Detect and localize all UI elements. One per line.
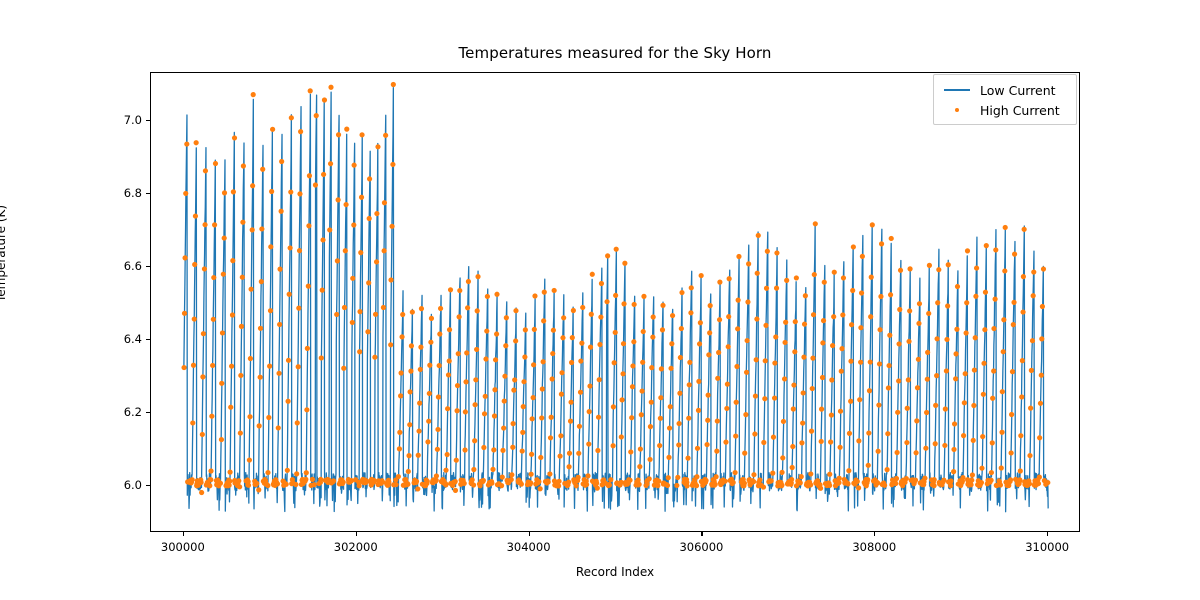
x-tick-label: 304000	[507, 540, 551, 554]
y-tick-mark	[146, 485, 150, 486]
legend-dot-icon	[940, 108, 974, 112]
x-tick-mark	[356, 532, 357, 536]
y-tick-mark	[146, 120, 150, 121]
legend-line-icon	[940, 89, 974, 91]
y-tick-label: 6.4	[94, 332, 142, 346]
chart-canvas	[151, 73, 1080, 532]
y-tick-label: 7.0	[94, 113, 142, 127]
legend-item-low-current: Low Current	[940, 80, 1068, 100]
x-tick-label: 310000	[1025, 540, 1069, 554]
x-tick-label: 302000	[334, 540, 378, 554]
matplotlib-figure: Temperatures measured for the Sky Horn 6…	[0, 0, 1200, 600]
plot-axes	[150, 72, 1080, 532]
x-tick-mark	[183, 532, 184, 536]
chart-legend: Low Current High Current	[933, 74, 1077, 125]
x-axis-label: Record Index	[150, 565, 1080, 579]
y-tick-mark	[146, 412, 150, 413]
x-tick-label: 306000	[679, 540, 723, 554]
x-tick-label: 308000	[852, 540, 896, 554]
series-low-current	[184, 88, 1048, 512]
x-tick-mark	[1047, 532, 1048, 536]
y-tick-label: 6.6	[94, 259, 142, 273]
low-current-line	[184, 88, 1048, 512]
y-tick-label: 6.0	[94, 478, 142, 492]
page-title: Temperatures measured for the Sky Horn	[150, 44, 1080, 62]
x-tick-label: 300000	[161, 540, 205, 554]
y-tick-mark	[146, 193, 150, 194]
y-tick-label: 6.2	[94, 405, 142, 419]
legend-item-high-current: High Current	[940, 100, 1068, 120]
legend-label-low-current: Low Current	[974, 83, 1056, 98]
x-tick-mark	[701, 532, 702, 536]
legend-label-high-current: High Current	[974, 103, 1060, 118]
x-tick-mark	[529, 532, 530, 536]
y-tick-mark	[146, 266, 150, 267]
y-axis-label: Temperature (K)	[0, 205, 8, 302]
x-tick-mark	[874, 532, 875, 536]
y-tick-label: 6.8	[94, 186, 142, 200]
y-tick-mark	[146, 339, 150, 340]
